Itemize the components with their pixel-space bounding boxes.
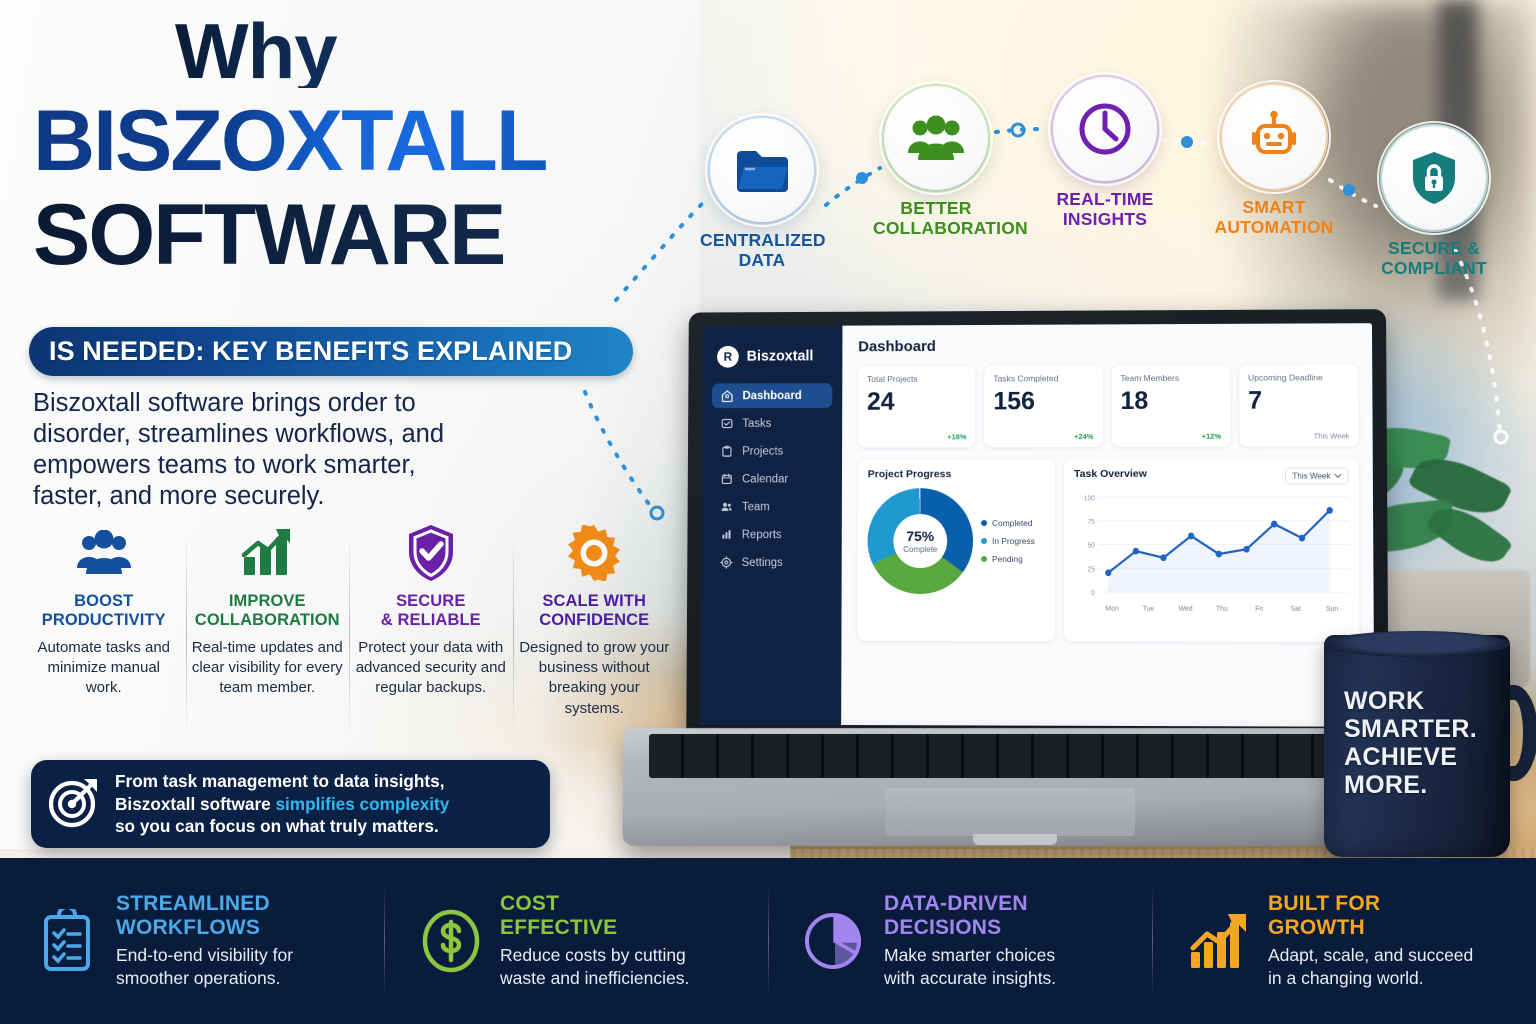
people-group-icon: [907, 115, 965, 161]
svg-text:25: 25: [1088, 566, 1096, 573]
svg-text:Sun: Sun: [1326, 604, 1338, 612]
benefit-title: BOOST PRODUCTIVITY: [28, 592, 180, 630]
headline-banner: IS NEEDED: KEY BENEFITS EXPLAINED: [29, 327, 633, 376]
callout-line2-pre: Biszoxtall software: [115, 794, 275, 814]
bottom-item-streamlined-workflows: STREAMLINED WORKFLOWS End-to-end visibil…: [0, 858, 384, 1024]
kpi-value: 7: [1248, 387, 1349, 414]
bar-chart-icon: [720, 528, 733, 541]
headline-brand: BISZOXTALL: [33, 98, 546, 184]
kpi-value: 24: [867, 389, 967, 415]
shield-lock-icon: [1410, 150, 1458, 206]
legend-dot: [981, 520, 987, 526]
benefit-columns: BOOST PRODUCTIVITY Automate tasks and mi…: [22, 522, 676, 744]
benefit-title-l1: IMPROVE: [229, 592, 306, 610]
node-better-collaboration[interactable]: BETTER COLLABORATION: [873, 86, 999, 238]
kpi-card-tasks-completed: Tasks Completed 156 +24%: [984, 365, 1102, 447]
gear-icon: [720, 556, 733, 569]
kpi-delta: +24%: [1074, 432, 1093, 441]
panel-header: Task Overview This Week: [1074, 468, 1349, 485]
node-smart-automation[interactable]: SMART AUTOMATION: [1212, 85, 1336, 237]
svg-text:Fri: Fri: [1255, 604, 1263, 612]
sidebar-item-label: Calendar: [742, 473, 788, 485]
laptop-keyboard: [649, 734, 1377, 778]
node-label: BETTER COLLABORATION: [873, 199, 999, 238]
brand-name: Biszoxtall: [747, 349, 814, 365]
svg-text:0: 0: [1091, 590, 1095, 597]
growth-bars-icon: [1186, 908, 1252, 974]
home-icon: [721, 389, 734, 402]
kpi-label: Team Members: [1120, 373, 1221, 383]
bottom-item-data-driven-decisions: DATA-DRIVEN DECISIONS Make smarter choic…: [768, 858, 1152, 1024]
bottom-item-text: COST EFFECTIVE Reduce costs by cutting w…: [500, 892, 689, 990]
growth-chart-icon: [192, 522, 344, 584]
pie-chart-icon: [802, 908, 868, 974]
legend-label: Pending: [992, 554, 1023, 564]
node-circle: [1053, 77, 1157, 181]
kpi-delta: +18%: [947, 432, 966, 441]
kpi-value: 18: [1120, 388, 1221, 415]
benefit-title-l2: COLLABORATION: [195, 611, 340, 629]
dashboard-sidebar: R Biszoxtall Dashboard Tasks Projects: [700, 326, 842, 725]
benefit-desc: Protect your data with advanced security…: [355, 638, 507, 699]
laptop-trackpad[interactable]: [885, 788, 1135, 836]
bottom-benefits-bar: STREAMLINED WORKFLOWS End-to-end visibil…: [0, 858, 1536, 1024]
node-circle: [884, 86, 988, 190]
legend-item: In Progress: [981, 536, 1035, 546]
benefit-title: IMPROVE COLLABORATION: [192, 592, 344, 630]
svg-text:50: 50: [1088, 542, 1096, 549]
page-title: Dashboard: [858, 336, 1358, 355]
donut-sublabel: Complete: [903, 545, 937, 554]
headline-banner-text: IS NEEDED: KEY BENEFITS EXPLAINED: [29, 336, 572, 367]
callout-line1: From task management to data insights,: [115, 771, 445, 791]
kpi-card-team-members: Team Members 18 +12%: [1111, 365, 1230, 447]
svg-text:Sat: Sat: [1290, 604, 1300, 612]
node-label: SECURE & COMPLIANT: [1372, 239, 1496, 278]
donut-chart-wrap: 75% Complete Completed In Progress Pendi…: [867, 488, 1045, 594]
sidebar-item-settings[interactable]: Settings: [711, 550, 832, 575]
sidebar-item-tasks[interactable]: Tasks: [712, 411, 833, 436]
svg-text:Tue: Tue: [1143, 604, 1155, 612]
laptop-device: R Biszoxtall Dashboard Tasks Projects: [623, 310, 1403, 855]
donut-chart: 75% Complete: [867, 488, 973, 594]
bottom-item-desc: Make smarter choices with accurate insig…: [884, 944, 1056, 990]
checkbox-icon: [721, 417, 734, 430]
timeframe-selector[interactable]: This Week: [1285, 468, 1348, 485]
panel-title: Task Overview: [1074, 468, 1147, 480]
svg-text:100: 100: [1084, 495, 1095, 502]
benefit-desc: Automate tasks and minimize manual work.: [28, 638, 180, 699]
node-circle: [1382, 126, 1486, 230]
node-realtime-insights[interactable]: REAL-TIME INSIGHTS: [1043, 77, 1167, 229]
lead-paragraph: Biszoxtall software brings order to diso…: [33, 388, 473, 511]
headline-software: SOFTWARE: [33, 192, 504, 278]
laptop-lid: R Biszoxtall Dashboard Tasks Projects: [686, 309, 1388, 737]
dashboard-screen: R Biszoxtall Dashboard Tasks Projects: [700, 323, 1374, 727]
dashboard-panels: Project Progress 75% Complete Complete: [857, 458, 1359, 641]
bottom-item-desc: Reduce costs by cutting waste and ineffi…: [500, 944, 689, 990]
kpi-card-total-projects: Total Projects 24 +18%: [858, 366, 976, 448]
sidebar-item-label: Tasks: [742, 417, 771, 429]
legend-label: In Progress: [992, 536, 1035, 546]
legend-item: Completed: [981, 518, 1035, 528]
benefit-title-l1: BOOST: [74, 592, 133, 610]
mug-line4: MORE.: [1344, 771, 1427, 799]
folder-icon: [734, 147, 790, 193]
bottom-item-title: STREAMLINED WORKFLOWS: [116, 892, 293, 939]
benefit-title-l2: PRODUCTIVITY: [42, 611, 166, 629]
sidebar-item-label: Reports: [742, 529, 782, 541]
kpi-cards: Total Projects 24 +18% Tasks Completed 1…: [858, 364, 1359, 447]
mug-text: WORK SMARTER. ACHIEVE MORE.: [1344, 687, 1494, 799]
mug-line2: SMARTER.: [1344, 715, 1477, 743]
headline-why: Why: [175, 14, 337, 88]
callout-text: From task management to data insights, B…: [115, 770, 449, 839]
benefit-desc: Real-time updates and clear visibility f…: [192, 638, 344, 699]
sidebar-item-label: Team: [742, 501, 770, 513]
panel-title: Project Progress: [868, 468, 1045, 480]
sidebar-item-label: Projects: [742, 445, 783, 457]
timeframe-selector-label: This Week: [1292, 472, 1330, 481]
legend-label: Completed: [992, 518, 1032, 528]
target-arrow-icon: [47, 775, 101, 834]
clock-icon: [1076, 100, 1134, 158]
kpi-delta: This Week: [1314, 431, 1350, 440]
bottom-item-desc: End-to-end visibility for smoother opera…: [116, 944, 293, 990]
bottom-item-title: BUILT FOR GROWTH: [1268, 892, 1473, 939]
legend-dot: [981, 556, 987, 562]
callout-highlight: simplifies complexity: [275, 794, 449, 814]
sidebar-item-dashboard[interactable]: Dashboard: [712, 383, 833, 408]
svg-text:Wed: Wed: [1179, 604, 1193, 612]
shield-check-icon: [355, 522, 507, 584]
benefit-improve-collaboration: IMPROVE COLLABORATION Real-time updates …: [186, 522, 350, 744]
infographic-canvas: Why BISZOXTALL SOFTWARE IS NEEDED: KEY B…: [0, 0, 1536, 1024]
node-label: SMART AUTOMATION: [1212, 198, 1336, 237]
chevron-down-icon: [1334, 474, 1341, 479]
benefit-title-l2: & RELIABLE: [381, 611, 481, 629]
svg-text:Mon: Mon: [1105, 604, 1118, 612]
calendar-icon: [720, 473, 733, 486]
bottom-item-text: STREAMLINED WORKFLOWS End-to-end visibil…: [116, 892, 293, 990]
bottom-item-desc: Adapt, scale, and succeed in a changing …: [1268, 944, 1473, 990]
bottom-item-text: BUILT FOR GROWTH Adapt, scale, and succe…: [1268, 892, 1473, 990]
mug-rim: [1324, 631, 1510, 657]
kpi-card-upcoming-deadline: Upcoming Deadline 7 This Week: [1239, 364, 1359, 446]
donut-percent: 75%: [906, 528, 934, 544]
benefit-secure-reliable: SECURE & RELIABLE Protect your data with…: [349, 522, 513, 744]
callout-box: From task management to data insights, B…: [31, 760, 550, 848]
sidebar-item-label: Dashboard: [742, 390, 801, 402]
dashboard-main: Dashboard Total Projects 24 +18% Tasks C…: [841, 323, 1374, 727]
people-icon: [720, 500, 733, 513]
sidebar-item-projects[interactable]: Projects: [712, 439, 833, 464]
benefit-title: SECURE & RELIABLE: [355, 592, 507, 630]
bottom-item-built-for-growth: BUILT FOR GROWTH Adapt, scale, and succe…: [1152, 858, 1536, 1024]
clipboard-icon: [720, 445, 733, 458]
benefit-boost-productivity: BOOST PRODUCTIVITY Automate tasks and mi…: [22, 522, 186, 744]
brand-logo-icon: R: [717, 346, 739, 368]
node-centralized-data[interactable]: CENTRALIZED DATA: [700, 118, 824, 270]
people-group-icon: [28, 522, 180, 584]
sidebar-item-label: Settings: [742, 557, 783, 569]
coffee-mug: WORK SMARTER. ACHIEVE MORE.: [1318, 625, 1536, 863]
panel-project-progress: Project Progress 75% Complete Complete: [857, 459, 1055, 641]
dollar-circle-icon: [418, 908, 484, 974]
mug-line3: ACHIEVE: [1344, 743, 1457, 771]
kpi-label: Total Projects: [867, 374, 967, 384]
sidebar-item-reports[interactable]: Reports: [711, 522, 832, 547]
kpi-delta: +12%: [1202, 432, 1222, 441]
node-circle: [1222, 85, 1326, 189]
sidebar-item-team[interactable]: Team: [711, 494, 832, 519]
bottom-item-text: DATA-DRIVEN DECISIONS Make smarter choic…: [884, 892, 1056, 990]
line-chart-svg: 10075 50250: [1074, 489, 1351, 634]
kpi-value: 156: [993, 388, 1093, 414]
mug-line1: WORK: [1344, 687, 1424, 715]
svg-text:Thu: Thu: [1216, 604, 1228, 612]
kpi-label: Tasks Completed: [993, 373, 1093, 383]
svg-text:75: 75: [1088, 519, 1096, 526]
clipboard-check-icon: [34, 908, 100, 974]
callout-line3: so you can focus on what truly matters.: [115, 816, 439, 836]
sidebar-item-calendar[interactable]: Calendar: [711, 466, 832, 491]
node-label: REAL-TIME INSIGHTS: [1043, 190, 1167, 229]
panel-task-overview: Task Overview This Week: [1064, 458, 1360, 641]
bottom-item-title: DATA-DRIVEN DECISIONS: [884, 892, 1056, 939]
donut-legend: Completed In Progress Pending: [981, 518, 1035, 564]
bottom-item-title: COST EFFECTIVE: [500, 892, 689, 939]
benefit-title-l1: SECURE: [396, 592, 465, 610]
node-secure-compliant[interactable]: SECURE & COMPLIANT: [1372, 126, 1496, 278]
kpi-label: Upcoming Deadline: [1248, 372, 1349, 382]
brand: R Biszoxtall: [717, 345, 833, 367]
donut-center: 75% Complete: [867, 488, 973, 594]
legend-dot: [981, 538, 987, 544]
node-circle: [710, 118, 814, 222]
laptop-notch: [973, 834, 1057, 845]
robot-icon: [1247, 111, 1301, 163]
bottom-item-cost-effective: COST EFFECTIVE Reduce costs by cutting w…: [384, 858, 768, 1024]
line-chart: 10075 50250: [1074, 489, 1351, 634]
legend-item: Pending: [981, 554, 1035, 564]
node-label: CENTRALIZED DATA: [700, 231, 824, 270]
